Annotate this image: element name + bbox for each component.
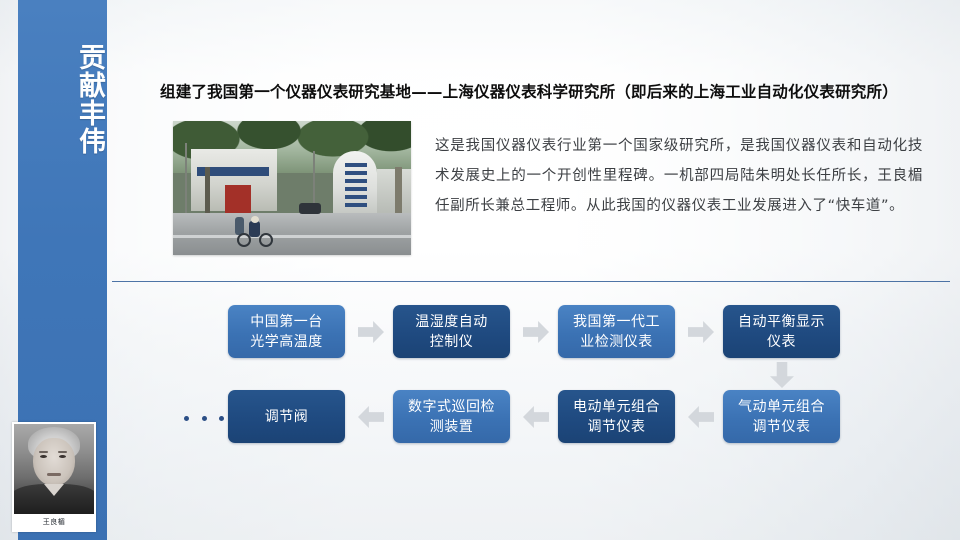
flow-node-8[interactable]: 调节阀: [228, 390, 345, 443]
portrait-brow-right: [58, 451, 67, 453]
portrait-face-shape: [33, 438, 75, 486]
flow-row-top: 中国第一台 光学高温度 温湿度自动 控制仪 我国第一代工 业检测仪表: [108, 305, 960, 363]
portrait-eye-right: [59, 455, 66, 458]
slide-canvas: 贡献丰伟 王良楣 组建了我国第一个仪器仪表研究基地——上海仪器仪表科学研究所（即…: [0, 0, 960, 540]
flow-node-6[interactable]: 电动单元组合 调节仪表: [558, 390, 675, 443]
portrait-eye-left: [40, 455, 47, 458]
flow-node-7-line2: 测装置: [408, 417, 495, 437]
flow-node-3-line2: 业检测仪表: [573, 332, 660, 352]
photo-wall-right: [377, 169, 411, 215]
portrait-caption: 王良楣: [14, 514, 94, 530]
flow-diagram: 中国第一台 光学高温度 温湿度自动 控制仪 我国第一代工 业检测仪表: [108, 290, 960, 475]
flow-node-5-line2: 调节仪表: [738, 417, 825, 437]
photo-red-banner: [225, 185, 251, 213]
portrait-brow-left: [39, 451, 48, 453]
flow-node-4[interactable]: 自动平衡显示 仪表: [723, 305, 840, 358]
flow-node-1[interactable]: 中国第一台 光学高温度: [228, 305, 345, 358]
flow-node-5[interactable]: 气动单元组合 调节仪表: [723, 390, 840, 443]
flow-node-1-line1: 中国第一台: [250, 312, 323, 332]
flow-node-2-line1: 温湿度自动: [415, 312, 488, 332]
flow-node-3[interactable]: 我国第一代工 业检测仪表: [558, 305, 675, 358]
photo-pole-2: [313, 151, 315, 211]
flow-node-4-line1: 自动平衡显示: [738, 312, 825, 332]
arrow-down-icon-connector: [770, 362, 794, 388]
portrait-mouth: [47, 473, 61, 476]
arrow-right-icon-3: [688, 321, 714, 343]
photo-bicycle-wheel-rear: [237, 233, 251, 247]
arrow-right-icon-2: [523, 321, 549, 343]
flow-node-6-line1: 电动单元组合: [573, 397, 660, 417]
flow-node-2[interactable]: 温湿度自动 控制仪: [393, 305, 510, 358]
flow-node-5-line1: 气动单元组合: [738, 397, 825, 417]
portrait-photo: [14, 424, 94, 514]
photo-curb: [173, 235, 411, 238]
flow-node-2-line2: 控制仪: [415, 332, 488, 352]
portrait-card: 王良楣: [12, 422, 96, 532]
body-paragraph: 这是我国仪器仪表行业第一个国家级研究所，是我国仪器仪表和自动化技术发展史上的一个…: [435, 131, 923, 221]
sidebar-title: 贡献丰伟: [18, 14, 107, 184]
flow-node-7[interactable]: 数字式巡回检 测装置: [393, 390, 510, 443]
arrow-left-icon-2: [523, 406, 549, 428]
photo-cyclist-body: [249, 221, 260, 237]
photo-tree-trunk-1: [205, 167, 210, 217]
content-photo: [173, 121, 411, 255]
arrow-left-icon-3: [688, 406, 714, 428]
arrow-left-icon-1: [358, 406, 384, 428]
photo-bicycle-wheel-front: [259, 233, 273, 247]
page-title: 组建了我国第一个仪器仪表研究基地——上海仪器仪表科学研究所（即后来的上海工业自动…: [160, 81, 950, 103]
flow-node-3-line1: 我国第一代工: [573, 312, 660, 332]
photo-gate-plaque: [345, 163, 367, 211]
photo-car: [299, 203, 321, 214]
photo-pole-1: [185, 143, 187, 215]
photo-cyclist-head: [251, 216, 259, 223]
section-divider: [112, 281, 950, 282]
flow-row-bottom: 调节阀 数字式巡回检 测装置 电动单元组合 调节仪表: [108, 390, 960, 448]
flow-node-7-line1: 数字式巡回检: [408, 397, 495, 417]
flow-node-6-line2: 调节仪表: [573, 417, 660, 437]
flow-node-4-line2: 仪表: [738, 332, 825, 352]
photo-tree-trunk-2: [395, 167, 402, 217]
flow-node-1-line2: 光学高温度: [250, 332, 323, 352]
arrow-right-icon-1: [358, 321, 384, 343]
photo-road: [173, 213, 411, 255]
flow-node-8-line1: 调节阀: [265, 407, 309, 427]
